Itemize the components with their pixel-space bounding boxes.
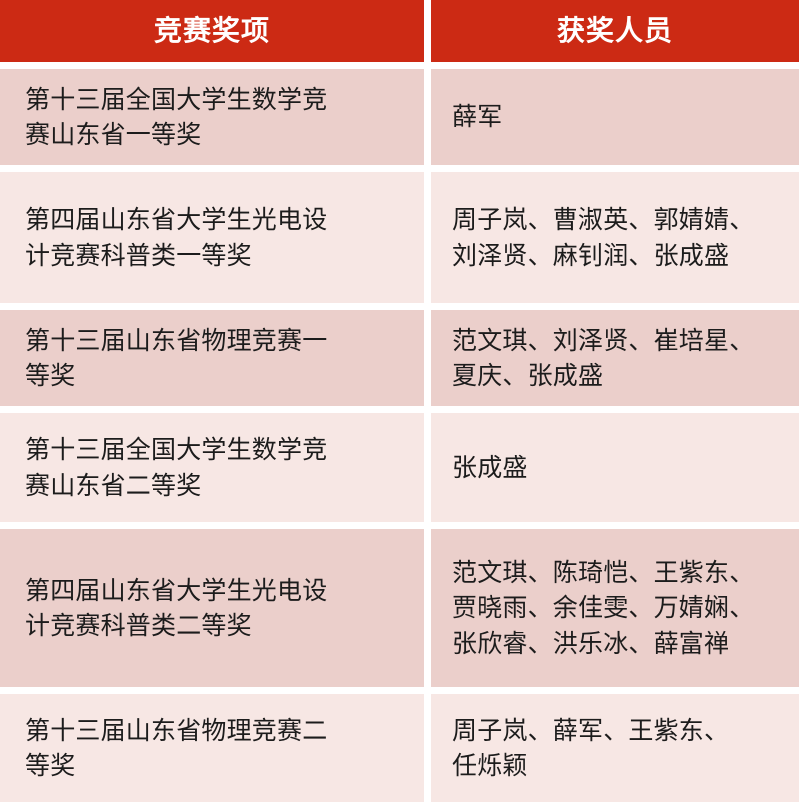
award-name: 第十三届全国大学生数学竞 赛山东省二等奖 — [25, 432, 327, 503]
cell-people: 周子岚、薛军、王紫东、 任烁颖 — [431, 694, 799, 802]
people-names: 周子岚、曹淑英、郭婧婧、 刘泽贤、麻钊润、张成盛 — [452, 202, 754, 273]
cell-people: 周子岚、曹淑英、郭婧婧、 刘泽贤、麻钊润、张成盛 — [431, 172, 799, 303]
cell-people: 薛军 — [431, 69, 799, 165]
table-row: 第四届山东省大学生光电设 计竞赛科普类一等奖 周子岚、曹淑英、郭婧婧、 刘泽贤、… — [0, 172, 799, 303]
people-names: 薛军 — [452, 99, 502, 135]
people-names: 范文琪、刘泽贤、崔培星、 夏庆、张成盛 — [452, 323, 754, 394]
cell-award: 第四届山东省大学生光电设 计竞赛科普类二等奖 — [0, 529, 424, 687]
people-names: 张成盛 — [452, 450, 528, 486]
cell-people: 范文琪、刘泽贤、崔培星、 夏庆、张成盛 — [431, 310, 799, 406]
column-header-award: 竞赛奖项 — [0, 0, 424, 62]
people-names: 范文琪、陈琦恺、王紫东、 贾晓雨、余佳雯、万婧娴、 张欣睿、洪乐冰、薛富禅 — [452, 555, 754, 662]
cell-award: 第四届山东省大学生光电设 计竞赛科普类一等奖 — [0, 172, 424, 303]
column-header-people: 获奖人员 — [431, 0, 799, 62]
column-header-award-label: 竞赛奖项 — [154, 17, 270, 45]
column-header-people-label: 获奖人员 — [557, 17, 673, 45]
cell-people: 张成盛 — [431, 413, 799, 522]
cell-people: 范文琪、陈琦恺、王紫东、 贾晓雨、余佳雯、万婧娴、 张欣睿、洪乐冰、薛富禅 — [431, 529, 799, 687]
award-name: 第四届山东省大学生光电设 计竞赛科普类二等奖 — [25, 573, 327, 644]
award-name: 第十三届山东省物理竞赛二 等奖 — [25, 713, 327, 784]
cell-award: 第十三届山东省物理竞赛二 等奖 — [0, 694, 424, 802]
cell-award: 第十三届全国大学生数学竞 赛山东省二等奖 — [0, 413, 424, 522]
table-row: 第十三届山东省物理竞赛一 等奖 范文琪、刘泽贤、崔培星、 夏庆、张成盛 — [0, 310, 799, 406]
table-row: 第十三届全国大学生数学竞 赛山东省一等奖 薛军 — [0, 69, 799, 165]
people-names: 周子岚、薛军、王紫东、 任烁颖 — [452, 713, 729, 784]
award-name: 第四届山东省大学生光电设 计竞赛科普类一等奖 — [25, 202, 327, 273]
table-row: 第四届山东省大学生光电设 计竞赛科普类二等奖 范文琪、陈琦恺、王紫东、 贾晓雨、… — [0, 529, 799, 687]
award-name: 第十三届山东省物理竞赛一 等奖 — [25, 323, 327, 394]
cell-award: 第十三届全国大学生数学竞 赛山东省一等奖 — [0, 69, 424, 165]
table-row: 第十三届山东省物理竞赛二 等奖 周子岚、薛军、王紫东、 任烁颖 — [0, 694, 799, 802]
table-row: 第十三届全国大学生数学竞 赛山东省二等奖 张成盛 — [0, 413, 799, 522]
award-results-table: 竞赛奖项 获奖人员 第十三届全国大学生数学竞 赛山东省一等奖 薛军 第四届山东省… — [0, 0, 799, 754]
cell-award: 第十三届山东省物理竞赛一 等奖 — [0, 310, 424, 406]
award-name: 第十三届全国大学生数学竞 赛山东省一等奖 — [25, 82, 327, 153]
table-header-row: 竞赛奖项 获奖人员 — [0, 0, 799, 62]
